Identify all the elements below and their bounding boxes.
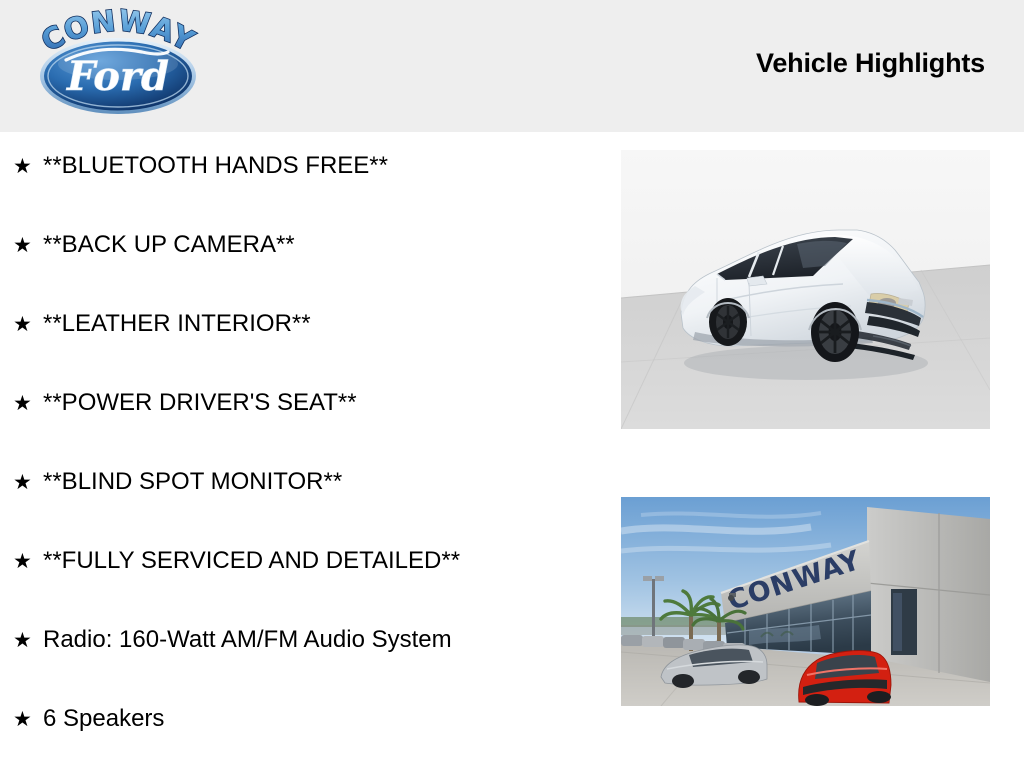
star-bullet-icon: ★ [13,551,43,572]
list-item: ★ **FULLY SERVICED AND DETAILED** [0,549,600,628]
list-item: ★ **POWER DRIVER'S SEAT** [0,391,600,470]
page-header: Ford CONWAY CONWAY Vehicle Highlights [0,0,1024,132]
star-bullet-icon: ★ [13,630,43,651]
list-item: ★ Radio: 160-Watt AM/FM Audio System [0,628,600,707]
vehicle-highlights-page: Ford CONWAY CONWAY Vehicle Highlights ★ [0,0,1024,768]
star-bullet-icon: ★ [13,393,43,414]
rear-wheel [709,298,747,346]
front-wheel [811,302,859,362]
conway-ford-logo[interactable]: Ford CONWAY CONWAY [22,8,214,120]
list-item-label: **BLUETOOTH HANDS FREE** [43,154,388,178]
page-title: Vehicle Highlights [756,48,985,79]
vehicle-photo[interactable] [621,150,990,429]
list-item-label: **FULLY SERVICED AND DETAILED** [43,549,460,573]
star-bullet-icon: ★ [13,156,43,177]
list-item: ★ **BLUETOOTH HANDS FREE** [0,154,600,233]
list-item-label: **BLIND SPOT MONITOR** [43,470,342,494]
list-item: ★ 6 Speakers [0,707,600,768]
star-bullet-icon: ★ [13,709,43,730]
star-bullet-icon: ★ [13,472,43,493]
list-item: ★ **LEATHER INTERIOR** [0,312,600,391]
list-item-label: **BACK UP CAMERA** [43,233,295,257]
vehicle-highlights-list: ★ **BLUETOOTH HANDS FREE** ★ **BACK UP C… [0,132,600,768]
list-item-label: **LEATHER INTERIOR** [43,312,311,336]
list-item-label: Radio: 160-Watt AM/FM Audio System [43,628,452,652]
svg-text:Ford: Ford [66,53,169,100]
star-bullet-icon: ★ [13,235,43,256]
list-item-label: **POWER DRIVER'S SEAT** [43,391,357,415]
star-bullet-icon: ★ [13,314,43,335]
list-item-label: 6 Speakers [43,707,164,731]
list-item: ★ **BLIND SPOT MONITOR** [0,470,600,549]
dealership-photo[interactable]: CONWAY [621,497,990,706]
list-item: ★ **BACK UP CAMERA** [0,233,600,312]
